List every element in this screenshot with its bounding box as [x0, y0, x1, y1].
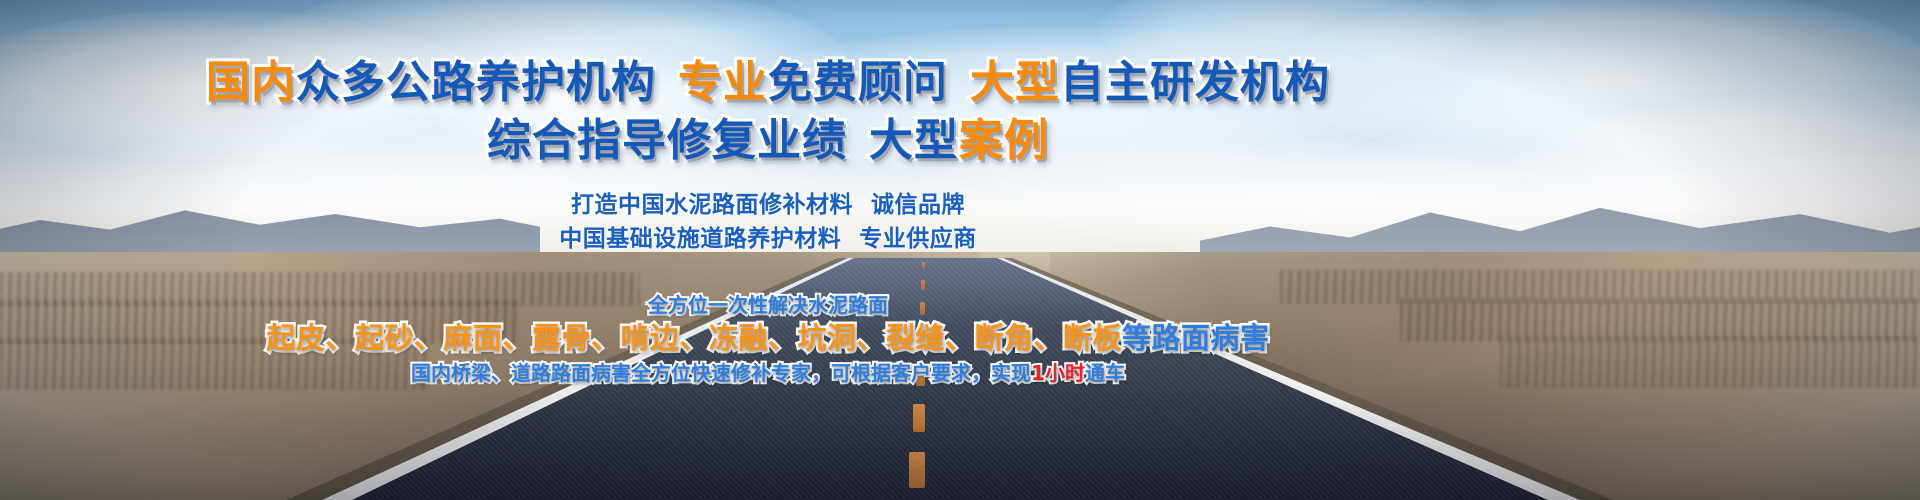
- bottom-tagline-highlight: 1小时: [1031, 361, 1085, 385]
- headline2-segment-3: 案例: [959, 115, 1049, 166]
- banner-text-layer: 国内众多公路养护机构专业免费顾问大型自主研发机构 综合指导修复业绩大型案例 打造…: [0, 0, 1920, 500]
- headline1-segment-5: 大型: [970, 57, 1060, 108]
- headline1-segment-2: 众多公路养护机构: [296, 57, 656, 108]
- headline1-segment-6: 自主研发机构: [1060, 57, 1330, 108]
- mid-slogan-line-1-part-a: 打造中国水泥路面修补材料: [571, 192, 853, 218]
- bottom-tagline-part-b: 通车: [1085, 361, 1125, 385]
- bottom-disease-list: 起皮、起砂、麻面、露骨、啃边、冻融、坑洞、裂缝、断角、断板等路面病害: [0, 318, 1536, 358]
- bottom-tagline: 国内桥梁、道路路面病害全方位快速修补专家，可根据客户要求，实现1小时通车: [0, 358, 1536, 388]
- mid-slogan-line-2: 中国基础设施道路养护材料专业供应商: [0, 222, 1536, 256]
- bottom-slogan-block: 全方位一次性解决水泥路面 起皮、起砂、麻面、露骨、啃边、冻融、坑洞、裂缝、断角、…: [0, 292, 1536, 388]
- bottom-disease-suffix: 等路面病害: [1122, 321, 1270, 355]
- headline1-segment-4: 免费顾问: [768, 57, 948, 108]
- headline2-segment-1: 综合指导修复业绩: [487, 115, 847, 166]
- mid-slogan-block: 打造中国水泥路面修补材料诚信品牌 中国基础设施道路养护材料专业供应商: [0, 188, 1536, 256]
- headline1-segment-3: 专业: [678, 57, 768, 108]
- mid-slogan-line-2-part-a: 中国基础设施道路养护材料: [559, 226, 841, 252]
- mid-slogan-line-2-part-b: 专业供应商: [859, 226, 977, 252]
- headline-primary: 国内众多公路养护机构专业免费顾问大型自主研发机构: [0, 46, 1536, 110]
- mid-slogan-line-1: 打造中国水泥路面修补材料诚信品牌: [0, 188, 1536, 222]
- bottom-tagline-part-a: 国内桥梁、道路路面病害全方位快速修补专家，可根据客户要求，实现: [411, 361, 1031, 385]
- headline2-segment-2: 大型: [869, 115, 959, 166]
- headline1-segment-1: 国内: [206, 57, 296, 108]
- bottom-subtitle: 全方位一次性解决水泥路面: [0, 292, 1536, 318]
- promo-banner: 国内众多公路养护机构专业免费顾问大型自主研发机构 综合指导修复业绩大型案例 打造…: [0, 0, 1920, 500]
- mid-slogan-line-1-part-b: 诚信品牌: [871, 192, 965, 218]
- bottom-disease-names: 起皮、起砂、麻面、露骨、啃边、冻融、坑洞、裂缝、断角、断板: [266, 321, 1122, 355]
- headline-secondary: 综合指导修复业绩大型案例: [0, 104, 1536, 168]
